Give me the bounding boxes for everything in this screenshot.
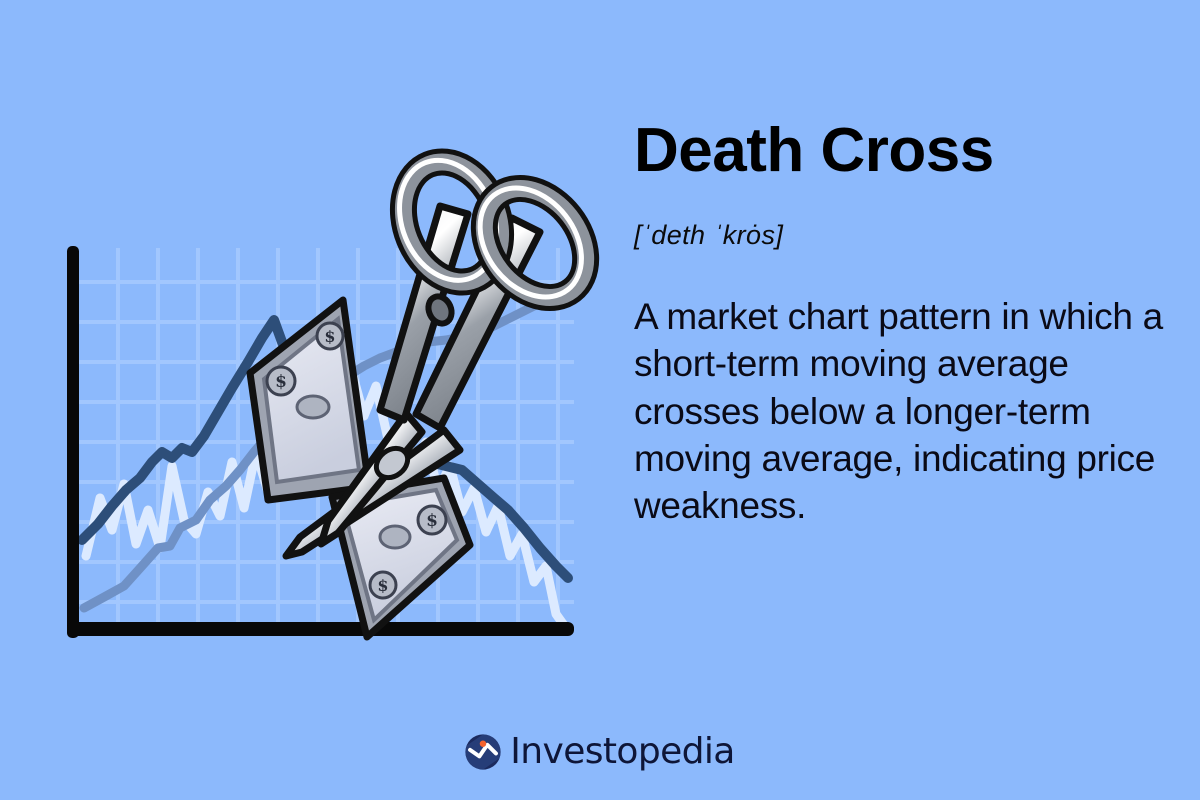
pronunciation: [ˈdeth ˈkrȯs] bbox=[634, 220, 1182, 251]
brand-footer: Investopedia bbox=[0, 731, 1200, 772]
investopedia-logo-icon bbox=[465, 734, 501, 770]
brand-name: Investopedia bbox=[510, 731, 735, 772]
illustration-stock-chart-scissors: $ $ $ $ bbox=[0, 0, 610, 700]
definition-card: $ $ $ $ bbox=[0, 0, 1200, 800]
svg-text:$: $ bbox=[377, 576, 388, 595]
svg-text:$: $ bbox=[324, 327, 335, 346]
definition-text-column: Death Cross [ˈdeth ˈkrȯs] A market chart… bbox=[634, 120, 1182, 530]
svg-text:$: $ bbox=[426, 511, 438, 531]
svg-text:$: $ bbox=[275, 372, 287, 392]
definition-text: A market chart pattern in which a short-… bbox=[634, 293, 1182, 530]
page-title: Death Cross bbox=[634, 120, 1182, 182]
